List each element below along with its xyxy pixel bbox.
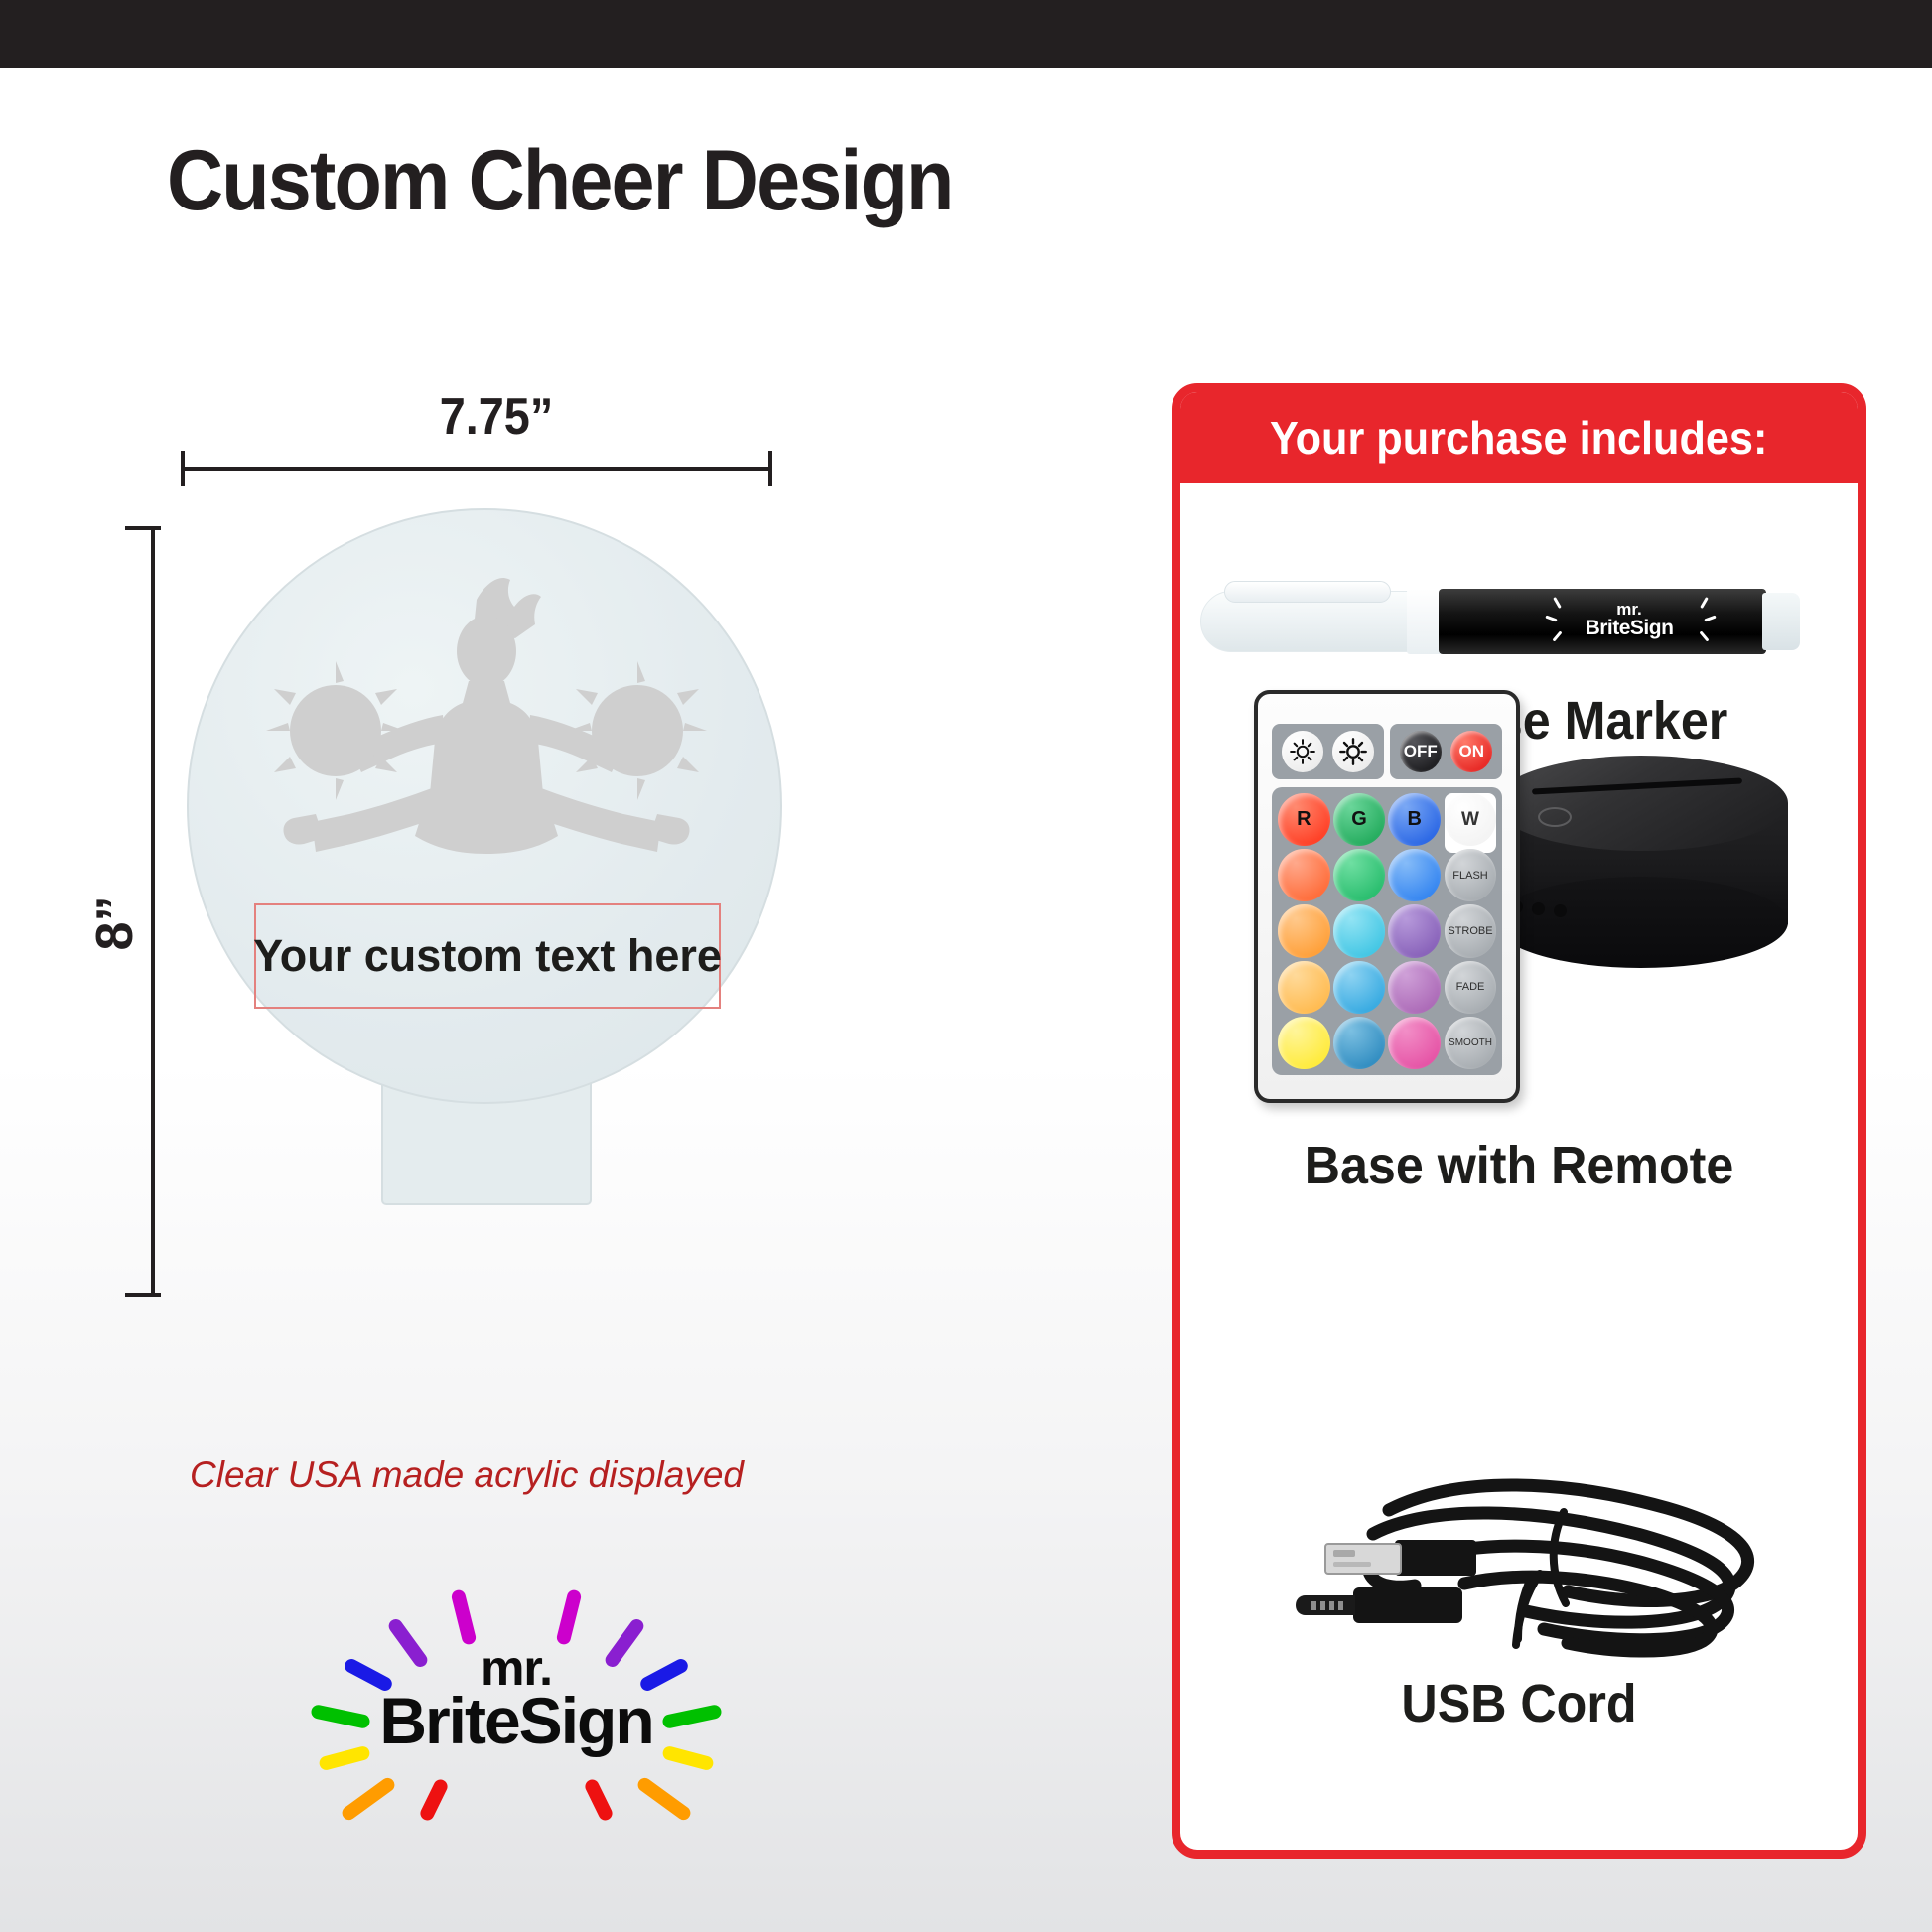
remote-power-row: OFF ON — [1272, 724, 1502, 779]
marker-brand-logo: mr. BriteSign — [1570, 601, 1689, 638]
cheerleader-silhouette-icon — [232, 566, 741, 923]
remote-onoff-group: OFF ON — [1390, 724, 1502, 779]
product-drawing-area: 7.75” 8” — [0, 0, 933, 1932]
panel-header-label: Your purchase includes: — [1270, 411, 1767, 465]
color-button[interactable] — [1388, 849, 1441, 901]
micro-usb-connector — [1296, 1587, 1462, 1623]
logo-ray — [418, 1777, 450, 1823]
marker-end-cap — [1762, 593, 1800, 650]
marker-collar — [1407, 589, 1443, 654]
panel-header: Your purchase includes: — [1180, 392, 1858, 483]
acrylic-sign: Your custom text here — [187, 508, 782, 1303]
on-button[interactable]: ON — [1450, 731, 1492, 772]
marker-clip — [1224, 581, 1391, 603]
color-button-green[interactable]: G — [1333, 793, 1386, 846]
color-button[interactable] — [1333, 1017, 1386, 1069]
led-base-top — [1494, 756, 1788, 851]
britesign-logo: mr. BriteSign — [328, 1584, 705, 1862]
power-button-icon[interactable] — [1538, 807, 1572, 827]
color-button[interactable] — [1278, 904, 1330, 957]
remote-brightness-group — [1272, 724, 1384, 779]
led-base-port — [1532, 902, 1545, 915]
remote-mode-column: W FLASH STROBE FADE SMOOTH — [1445, 793, 1496, 1069]
brightness-up-icon — [1338, 737, 1368, 766]
color-button[interactable] — [1278, 849, 1330, 901]
color-button[interactable] — [1278, 961, 1330, 1014]
remote-color-area: R G B W FL — [1272, 787, 1502, 1075]
color-button[interactable] — [1278, 1017, 1330, 1069]
led-base-bottom — [1494, 877, 1788, 968]
led-base-remote-icon: OFF ON R G B — [1254, 690, 1830, 998]
led-base-port — [1554, 904, 1567, 917]
item-label-usb: USB Cord — [1204, 1673, 1834, 1734]
acrylic-disc: Your custom text here — [187, 508, 782, 1104]
color-button-red[interactable]: R — [1278, 793, 1330, 846]
logo-line-2: BriteSign — [328, 1691, 705, 1751]
width-dimension-line — [181, 467, 772, 471]
logo-ray — [635, 1775, 693, 1823]
height-dimension-line — [151, 526, 155, 1297]
color-button[interactable] — [1333, 904, 1386, 957]
color-button[interactable] — [1388, 961, 1441, 1014]
marker-icon: mr. BriteSign — [1200, 573, 1816, 668]
color-button-white[interactable]: W — [1445, 793, 1496, 846]
color-button[interactable] — [1333, 961, 1386, 1014]
logo-text: mr. BriteSign — [328, 1645, 705, 1751]
custom-text-field[interactable]: Your custom text here — [254, 903, 721, 1009]
item-label-base: Base with Remote — [1204, 1135, 1834, 1196]
logo-ray — [555, 1588, 582, 1646]
custom-text-placeholder: Your custom text here — [253, 930, 722, 982]
acrylic-note: Clear USA made acrylic displayed — [0, 1454, 933, 1496]
height-dimension-label: 8” — [85, 844, 145, 1003]
color-button[interactable] — [1388, 1017, 1441, 1069]
off-button[interactable]: OFF — [1400, 731, 1442, 772]
purchase-includes-panel: Your purchase includes: mr. BriteSign We… — [1172, 383, 1866, 1859]
usb-a-connector — [1325, 1540, 1476, 1576]
color-button-blue[interactable]: B — [1388, 793, 1441, 846]
logo-ray — [340, 1775, 397, 1823]
color-button[interactable] — [1333, 849, 1386, 901]
strobe-button[interactable]: STROBE — [1445, 904, 1496, 957]
height-dimension-cap-bottom — [125, 1293, 161, 1297]
flash-button[interactable]: FLASH — [1445, 849, 1496, 901]
led-base — [1494, 756, 1788, 966]
rgb-remote-control[interactable]: OFF ON R G B — [1254, 690, 1520, 1103]
logo-ray — [583, 1777, 615, 1823]
marker-brand-line-1: mr. — [1570, 601, 1689, 618]
width-dimension-label: 7.75” — [425, 387, 568, 447]
logo-ray — [450, 1588, 477, 1646]
height-dimension-cap-top — [125, 526, 161, 530]
remote-color-grid: R G B — [1278, 793, 1441, 1069]
usb-cable-icon — [1270, 1464, 1786, 1693]
color-button[interactable] — [1388, 904, 1441, 957]
width-dimension-cap-left — [181, 451, 185, 486]
brightness-down-icon — [1288, 737, 1317, 766]
fade-button[interactable]: FADE — [1445, 961, 1496, 1014]
marker-brand-line-2: BriteSign — [1570, 618, 1689, 638]
brightness-down-button[interactable] — [1282, 731, 1323, 772]
smooth-button[interactable]: SMOOTH — [1445, 1017, 1496, 1069]
brightness-up-button[interactable] — [1332, 731, 1374, 772]
width-dimension-cap-right — [768, 451, 772, 486]
led-base-slot — [1532, 777, 1742, 794]
